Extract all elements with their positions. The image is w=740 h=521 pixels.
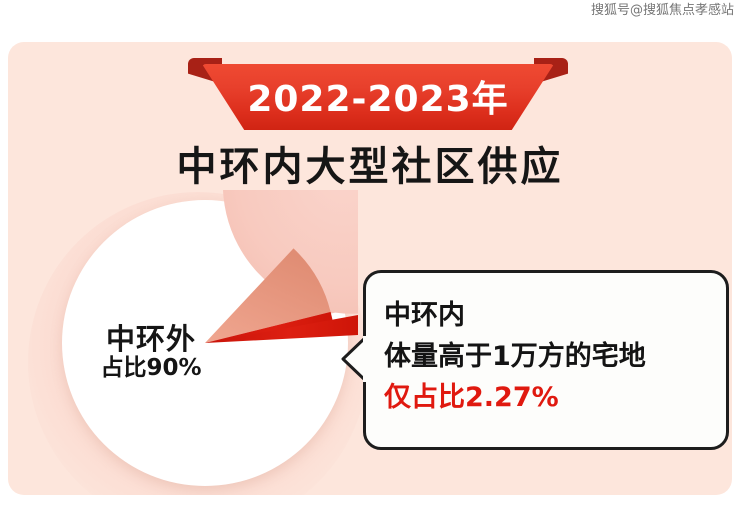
callout-box: 中环内 体量高于1万方的宅地 仅占比2.27% xyxy=(363,270,729,450)
pie-chart: 中环外 占比90% xyxy=(52,190,358,495)
pie-highlight-extension xyxy=(52,190,358,495)
callout-text: 中环内 体量高于1万方的宅地 仅占比2.27% xyxy=(384,295,720,418)
callout-line-1: 中环内 xyxy=(384,295,720,336)
callout-line-3: 仅占比2.27% xyxy=(384,377,720,418)
year-ribbon: 2022-2023年 xyxy=(188,58,568,130)
callout-line-2: 体量高于1万方的宅地 xyxy=(384,336,720,377)
page-title: 中环内大型社区供应 xyxy=(8,134,732,192)
watermark-text: 搜狐号@搜狐焦点孝感站 xyxy=(591,2,734,20)
infographic-card: 2022-2023年 中环内大型社区供应 xyxy=(8,42,732,495)
ribbon-label: 2022-2023年 xyxy=(202,64,554,130)
